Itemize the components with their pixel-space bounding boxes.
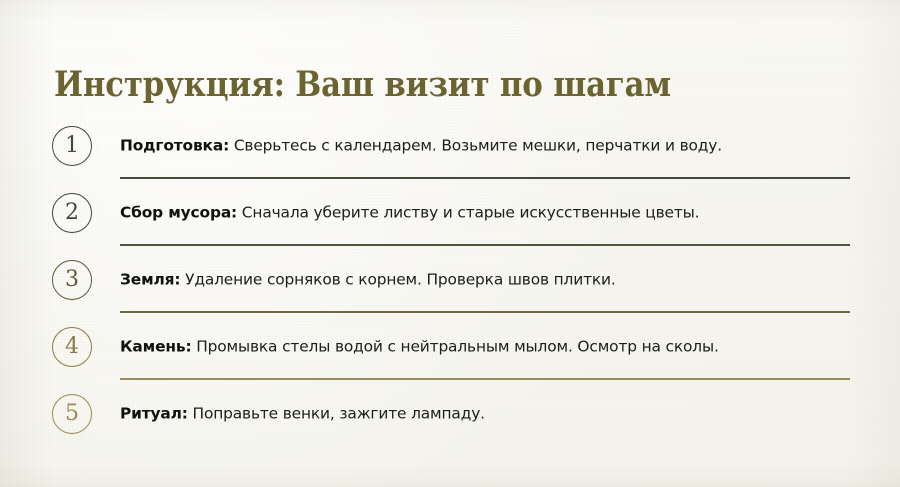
step-lead-label: Камень: xyxy=(120,337,191,355)
step-row: 4Камень: Промывка стелы водой с нейтраль… xyxy=(0,313,900,380)
step-row: 5Ритуал: Поправьте венки, зажгите лампад… xyxy=(0,380,900,447)
step-body-text: Поправьте венки, зажгите лампаду. xyxy=(188,404,485,422)
step-number-badge: 2 xyxy=(52,193,92,233)
step-body-text: Промывка стелы водой с нейтральным мылом… xyxy=(191,337,718,355)
step-number-label: 2 xyxy=(65,202,79,224)
step-number-label: 3 xyxy=(65,269,79,291)
step-row: 3Земля: Удаление сорняков с корнем. Пров… xyxy=(0,246,900,313)
step-text: Земля: Удаление сорняков с корнем. Прове… xyxy=(120,269,854,290)
page-title: Инструкция: Ваш визит по шагам xyxy=(54,64,671,106)
step-body-text: Удаление сорняков с корнем. Проверка шво… xyxy=(180,270,615,288)
step-number-label: 5 xyxy=(65,403,79,425)
step-lead-label: Подготовка: xyxy=(120,136,229,154)
step-number-badge: 4 xyxy=(52,327,92,367)
step-text: Камень: Промывка стелы водой с нейтральн… xyxy=(120,336,854,357)
step-number-badge: 1 xyxy=(52,126,92,166)
step-text: Подготовка: Сверьтесь с календарем. Возь… xyxy=(120,135,854,156)
step-body-text: Сверьтесь с календарем. Возьмите мешки, … xyxy=(229,136,722,154)
step-text: Ритуал: Поправьте венки, зажгите лампаду… xyxy=(120,403,854,424)
step-row: 2Сбор мусора: Сначала уберите листву и с… xyxy=(0,179,900,246)
step-number-label: 1 xyxy=(65,135,79,157)
step-lead-label: Сбор мусора: xyxy=(120,203,237,221)
step-number-badge: 3 xyxy=(52,260,92,300)
step-number-badge: 5 xyxy=(52,394,92,434)
step-number-label: 4 xyxy=(65,336,79,358)
step-body-text: Сначала уберите листву и старые искусств… xyxy=(237,203,699,221)
step-lead-label: Земля: xyxy=(120,270,180,288)
steps-list: 1Подготовка: Сверьтесь с календарем. Воз… xyxy=(0,112,900,447)
step-text: Сбор мусора: Сначала уберите листву и ст… xyxy=(120,202,854,223)
instruction-card: Инструкция: Ваш визит по шагам 1Подготов… xyxy=(0,0,900,487)
step-lead-label: Ритуал: xyxy=(120,404,188,422)
step-row: 1Подготовка: Сверьтесь с календарем. Воз… xyxy=(0,112,900,179)
